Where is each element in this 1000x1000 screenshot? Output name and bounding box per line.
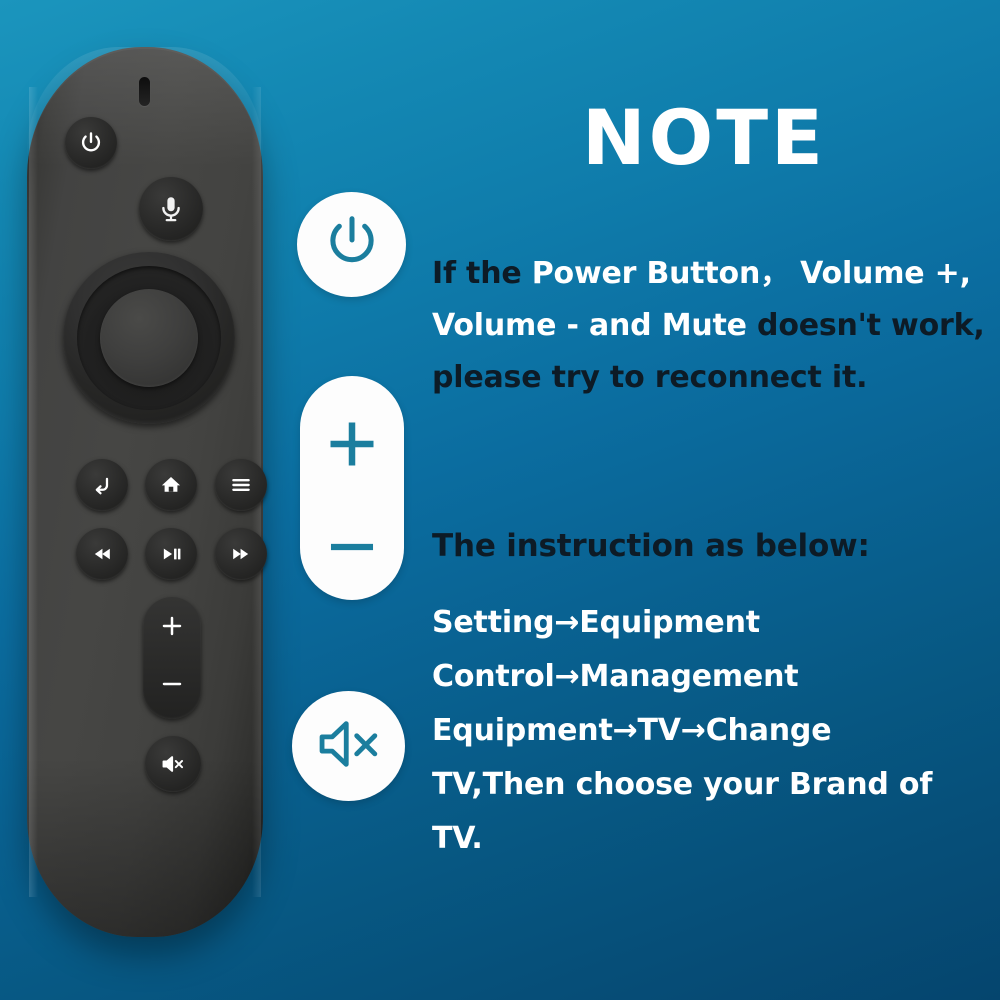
instruction-steps: Setting→Equipment Control→Management Equ… (432, 596, 972, 866)
power-icon (78, 130, 104, 156)
remote-rewind-button[interactable] (76, 528, 128, 580)
remote-fast-forward-button[interactable] (215, 528, 267, 580)
instruction-heading: The instruction as below: (432, 520, 952, 572)
body-left-edge-highlight (29, 87, 38, 897)
remote-mute-button[interactable] (145, 736, 201, 792)
back-arrow-icon (89, 472, 115, 498)
body-top-highlight (27, 47, 263, 167)
plus-icon[interactable] (143, 613, 201, 639)
mute-icon (313, 711, 385, 782)
remote-power-button[interactable] (65, 117, 117, 169)
warning-lead: If the (432, 256, 532, 291)
remote-back-button[interactable] (76, 459, 128, 511)
product-note-graphic: NOTE If the Power Button， Volume +, Volu… (0, 0, 1000, 1000)
remote-play-pause-button[interactable] (145, 528, 197, 580)
remote-menu-button[interactable] (215, 459, 267, 511)
remote-microphone-button[interactable] (139, 177, 203, 241)
ir-emitter-slot (139, 77, 150, 106)
warning-paragraph: If the Power Button， Volume +, Volume - … (432, 248, 992, 404)
volume-minus-icon (300, 536, 404, 558)
page-title: NOTE (582, 100, 826, 176)
badge-mute (292, 691, 405, 801)
power-icon (321, 211, 383, 278)
fast-forward-icon (228, 541, 254, 567)
play-pause-icon (158, 541, 184, 567)
volume-plus-icon (300, 414, 404, 474)
badge-power (297, 192, 406, 297)
rewind-icon (89, 541, 115, 567)
body-bottom-shadow (27, 757, 263, 937)
remote-home-button[interactable] (145, 459, 197, 511)
home-icon (158, 472, 184, 498)
badge-volume (300, 376, 404, 600)
remote-control-body (27, 47, 263, 937)
mute-icon (159, 750, 187, 778)
remote-volume-rocker[interactable] (143, 597, 201, 719)
remote-select-button[interactable] (100, 289, 198, 387)
remote-navigation-ring[interactable] (63, 252, 235, 424)
minus-icon[interactable] (143, 671, 201, 697)
hamburger-menu-icon (228, 472, 254, 498)
microphone-icon (156, 194, 186, 224)
